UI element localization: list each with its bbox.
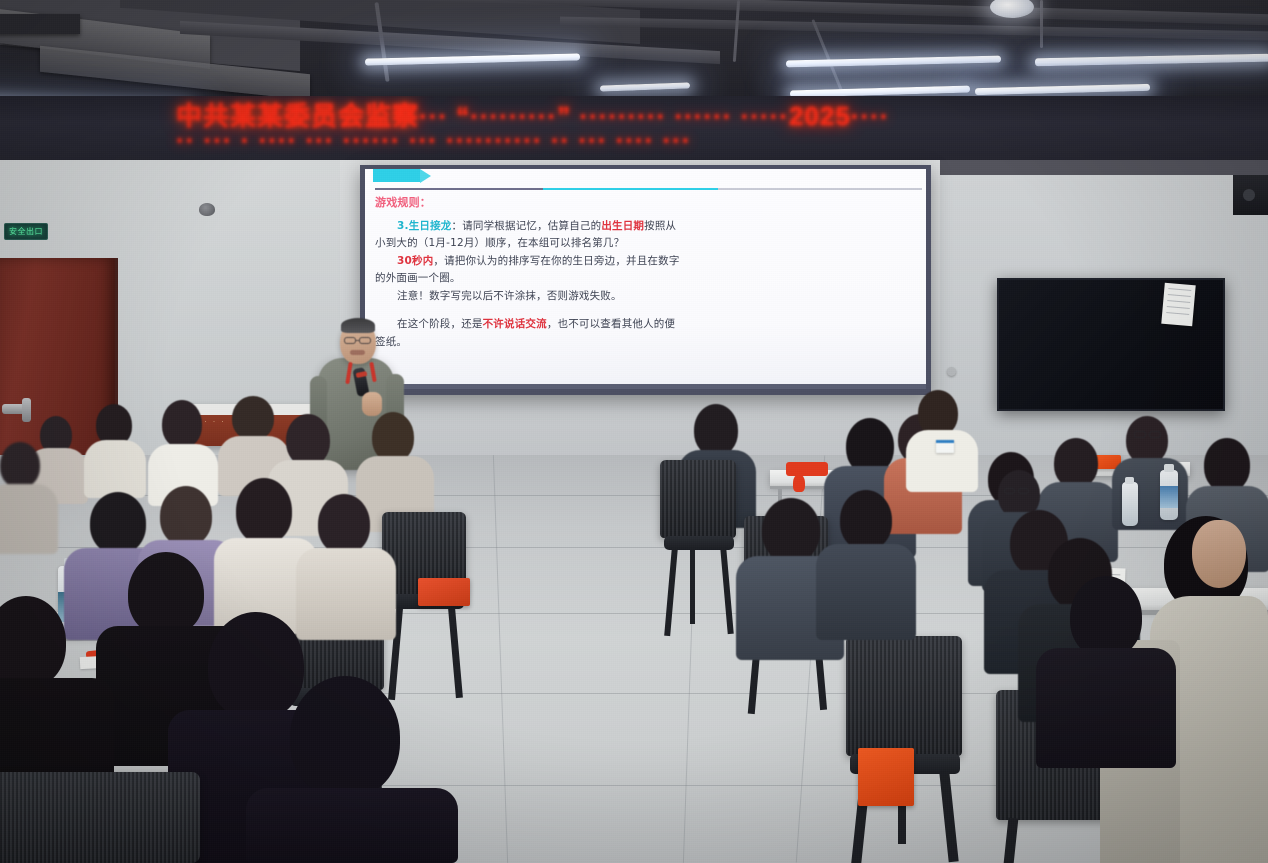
wall-outlet-icon — [947, 367, 956, 376]
person-torso — [296, 548, 396, 640]
presenter-glasses-bridge — [356, 340, 359, 341]
slide-run-birthdate: 出生日期 — [601, 220, 644, 232]
person-head — [372, 412, 414, 462]
person-head — [162, 400, 202, 448]
presenter-hand — [362, 392, 382, 416]
bottle-label — [1160, 486, 1178, 508]
person-head — [286, 414, 330, 466]
slide-run-silence-cont: 签纸。 — [375, 336, 407, 348]
exit-sign: 安全出口 — [4, 223, 48, 240]
slide-paragraph-rule3-cont: 小到大的（1月-12月）顺序，在本组可以排名第几？ — [375, 235, 916, 252]
person-head — [128, 552, 204, 636]
led-banner-line-2: ·· ··· · ···· ··· ······ ··· ·········· … — [176, 128, 1176, 162]
presenter-hair — [341, 318, 375, 333]
projection-screen: 游戏规则： 3.生日接龙：请同学根据记忆，估算自己的出生日期按照从 小到大的（1… — [360, 165, 931, 395]
ceiling-pipe — [1040, 0, 1043, 48]
slide-run-rule3-label: 3.生日接龙 — [397, 220, 452, 232]
person-torso — [1036, 648, 1176, 768]
slide-run-rule3-cont: 小到大的（1月-12月）顺序，在本组可以排名第几？ — [375, 237, 624, 249]
person-head — [1070, 576, 1142, 658]
ceiling-tube-light — [365, 53, 580, 65]
slide-accent-tab — [373, 169, 420, 182]
chair-leg — [690, 548, 695, 624]
name-badge — [936, 440, 954, 453]
chair-back[interactable] — [846, 636, 962, 756]
presenter-glasses-left — [344, 337, 356, 344]
display-paper-note — [1161, 283, 1195, 327]
person-head — [208, 612, 304, 720]
slide-run-rule3-b: 按照从 — [644, 220, 676, 232]
slide-run-note: 注意！数字写完以后不许涂抹，否则游戏失败。 — [397, 290, 622, 302]
slide-paragraph-rule3: 3.生日接龙：请同学根据记忆，估算自己的出生日期按照从 — [375, 218, 916, 235]
slide-run-30seconds: 30秒内 — [397, 255, 433, 267]
slide-paragraph-30s: 30秒内，请把你认为的排序写在你的生日旁边，并且在数字 — [375, 253, 916, 270]
slide-run-30s-a: ，请把你认为的排序写在你的生日旁边，并且在数字 — [433, 255, 679, 267]
person-head — [0, 442, 40, 488]
wall-speaker-icon — [1233, 175, 1268, 215]
slide-spacer — [375, 305, 916, 316]
presenter-glasses-right — [359, 337, 371, 344]
slide-arrow-icon — [420, 169, 431, 183]
slide-paragraph-30s-cont: 的外面画一个圈。 — [375, 270, 916, 287]
person-glasses-left — [1134, 431, 1146, 438]
slide-footer-bar — [365, 384, 926, 389]
person-torso — [246, 788, 458, 863]
person-face — [1192, 520, 1246, 588]
ceiling-tube-light — [786, 56, 1001, 68]
ceiling-duct — [0, 14, 80, 34]
slide-paragraph-note: 注意！数字写完以后不许涂抹，否则游戏失败。 — [375, 288, 916, 305]
slide-run-silence-a: 在这个阶段，还是 — [397, 318, 483, 330]
slide-run-rule3-a: ：请同学根据记忆，估算自己的 — [452, 220, 602, 232]
person-glasses-left — [1004, 488, 1015, 494]
name-badge-strip — [936, 440, 954, 443]
water-bottle — [1122, 482, 1138, 526]
led-banner: 中共某某委员会监察··· “·········” ········· ·····… — [0, 96, 1268, 162]
person-head — [290, 676, 400, 798]
slide-run-no-talking: 不许说话交流 — [483, 318, 547, 330]
person-head — [90, 492, 146, 554]
person-torso — [84, 440, 146, 498]
water-bottle — [1160, 470, 1178, 520]
slide-content: 游戏规则： 3.生日接龙：请同学根据记忆，估算自己的出生日期按照从 小到大的（1… — [365, 169, 926, 389]
slide-run-30s-cont: 的外面画一个圈。 — [375, 272, 461, 284]
slide-paragraph-silence: 在这个阶段，还是不许说话交流，也不可以查看其他人的便 — [375, 316, 916, 333]
slide-paragraph-silence-cont: 签纸。 — [375, 334, 916, 351]
person-head — [1126, 416, 1168, 464]
person-head — [1054, 438, 1098, 488]
ceiling-tube-light — [975, 84, 1150, 95]
exit-sign-label: 安全出口 — [9, 226, 43, 237]
classroom-photo-scene: 中共某某委员会监察··· “·········” ········· ·····… — [0, 0, 1268, 863]
bottle-cap — [1125, 477, 1134, 484]
chair-back[interactable] — [660, 460, 736, 538]
person-head — [762, 498, 820, 562]
person-torso — [816, 544, 916, 640]
orange-container — [418, 578, 470, 606]
person-head — [694, 404, 738, 456]
person-glasses-right — [1149, 431, 1161, 438]
person-glasses-right — [1018, 488, 1029, 494]
orange-bag — [858, 748, 914, 806]
person-head — [232, 396, 274, 440]
ceiling-tube-light — [1035, 54, 1268, 67]
slide-text-body: 游戏规则： 3.生日接龙：请同学根据记忆，估算自己的出生日期按照从 小到大的（1… — [375, 195, 916, 351]
ceiling-tube-light — [600, 82, 690, 91]
person-head — [318, 494, 370, 554]
red-item-on-table — [786, 462, 828, 476]
slide-divider — [375, 188, 922, 190]
bottle-cap — [1164, 464, 1174, 472]
presenter-mouth — [350, 350, 365, 355]
person-head — [160, 486, 212, 546]
door-lock[interactable] — [22, 398, 31, 422]
wall-sensor-icon — [199, 203, 215, 216]
red-item-hanging — [793, 474, 805, 492]
person-head — [840, 490, 892, 550]
person-head — [1204, 438, 1250, 492]
slide-title: 游戏规则： — [375, 195, 916, 212]
slide-run-silence-b: ，也不可以查看其他人的便 — [547, 318, 675, 330]
person-torso — [0, 484, 58, 554]
chair-back[interactable] — [0, 772, 200, 863]
person-head — [236, 478, 292, 544]
